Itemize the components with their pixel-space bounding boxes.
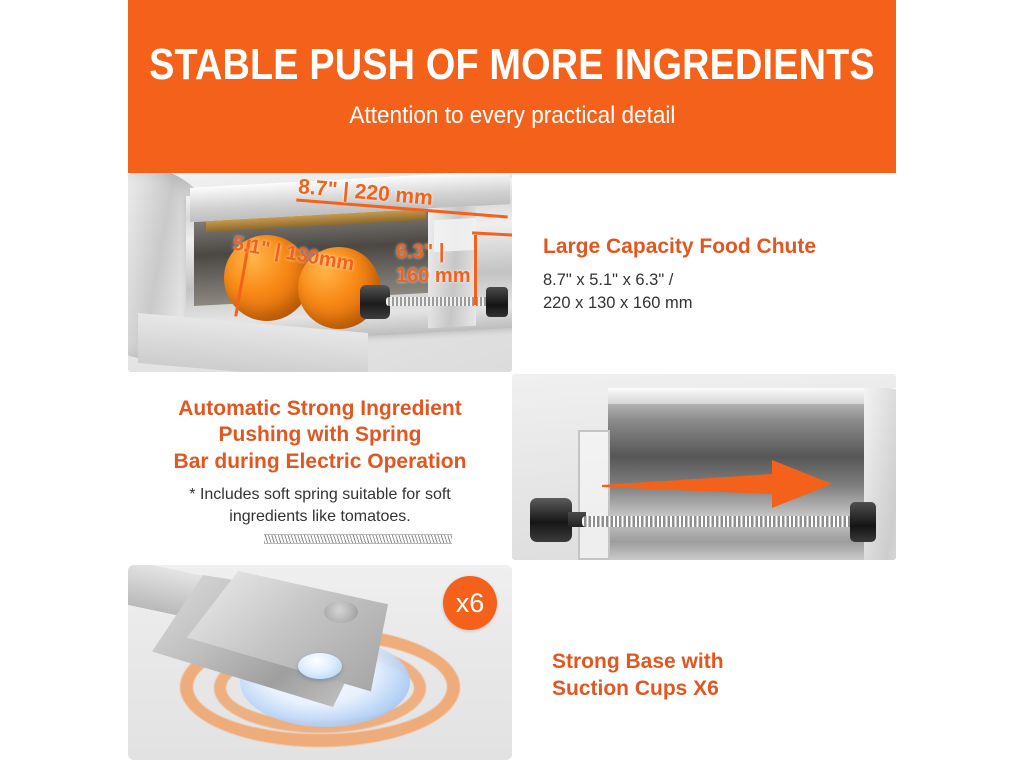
height-dimension-label-line2: 160 mm xyxy=(396,265,471,289)
suction-base-text-block: Strong Base with Suction Cups X6 xyxy=(552,648,892,703)
spring-bar-text-block: Automatic Strong Ingredient Pushing with… xyxy=(128,396,512,529)
suction-base-heading: Strong Base with Suction Cups X6 xyxy=(552,648,892,703)
spring-bar-body-line1: * Includes soft spring suitable for soft xyxy=(128,484,512,506)
header-banner: STABLE PUSH OF MORE INGREDIENTS Attentio… xyxy=(128,0,896,173)
rod-end-cap xyxy=(486,287,508,317)
page-subtitle: Attention to every practical detail xyxy=(349,102,675,130)
quantity-badge: x6 xyxy=(443,576,497,630)
chute-drum-top-edge xyxy=(608,388,896,404)
food-chute-heading: Large Capacity Food Chute xyxy=(543,234,893,260)
food-chute-body: 8.7" x 5.1" x 6.3" / 220 x 130 x 160 mm xyxy=(543,269,893,316)
food-chute-body-line2: 220 x 130 x 160 mm xyxy=(543,292,893,315)
food-chute-text-block: Large Capacity Food Chute 8.7" x 5.1" x … xyxy=(543,234,893,315)
suction-base-heading-line1: Strong Base with xyxy=(552,648,892,675)
base-screw-head xyxy=(324,601,358,623)
spring-knob xyxy=(530,498,572,542)
threaded-rod xyxy=(582,516,854,527)
soft-spring-image xyxy=(264,534,452,544)
height-dimension-label-line1: 6.3" | xyxy=(396,241,471,265)
food-chute-body-line1: 8.7" x 5.1" x 6.3" / xyxy=(543,269,893,292)
suction-cup-photo: x6 xyxy=(128,565,512,760)
spring-bar-photo xyxy=(512,374,896,560)
threaded-rod xyxy=(386,297,496,306)
spring-bar-body-line2: ingredients like tomatoes. xyxy=(128,506,512,528)
suction-cup xyxy=(298,653,342,679)
push-direction-arrow-icon xyxy=(602,460,832,508)
spring-bar-heading-line1: Automatic Strong Ingredient xyxy=(128,396,512,422)
rod-end-cap xyxy=(850,502,876,542)
spring-bar-heading: Automatic Strong Ingredient Pushing with… xyxy=(128,396,512,475)
page-title: STABLE PUSH OF MORE INGREDIENTS xyxy=(149,43,875,88)
height-dimension-line xyxy=(474,235,477,305)
height-dimension-label: 6.3" | 160 mm xyxy=(396,241,471,288)
suction-base-heading-line2: Suction Cups X6 xyxy=(552,675,892,702)
spring-bar-body: * Includes soft spring suitable for soft… xyxy=(128,484,512,528)
spring-bar-heading-line3: Bar during Electric Operation xyxy=(128,449,512,475)
spring-bar-heading-line2: Pushing with Spring xyxy=(128,422,512,448)
food-chute-photo: 8.7" | 220 mm 5.1" | 130mm 6.3" | 160 mm xyxy=(128,173,512,372)
